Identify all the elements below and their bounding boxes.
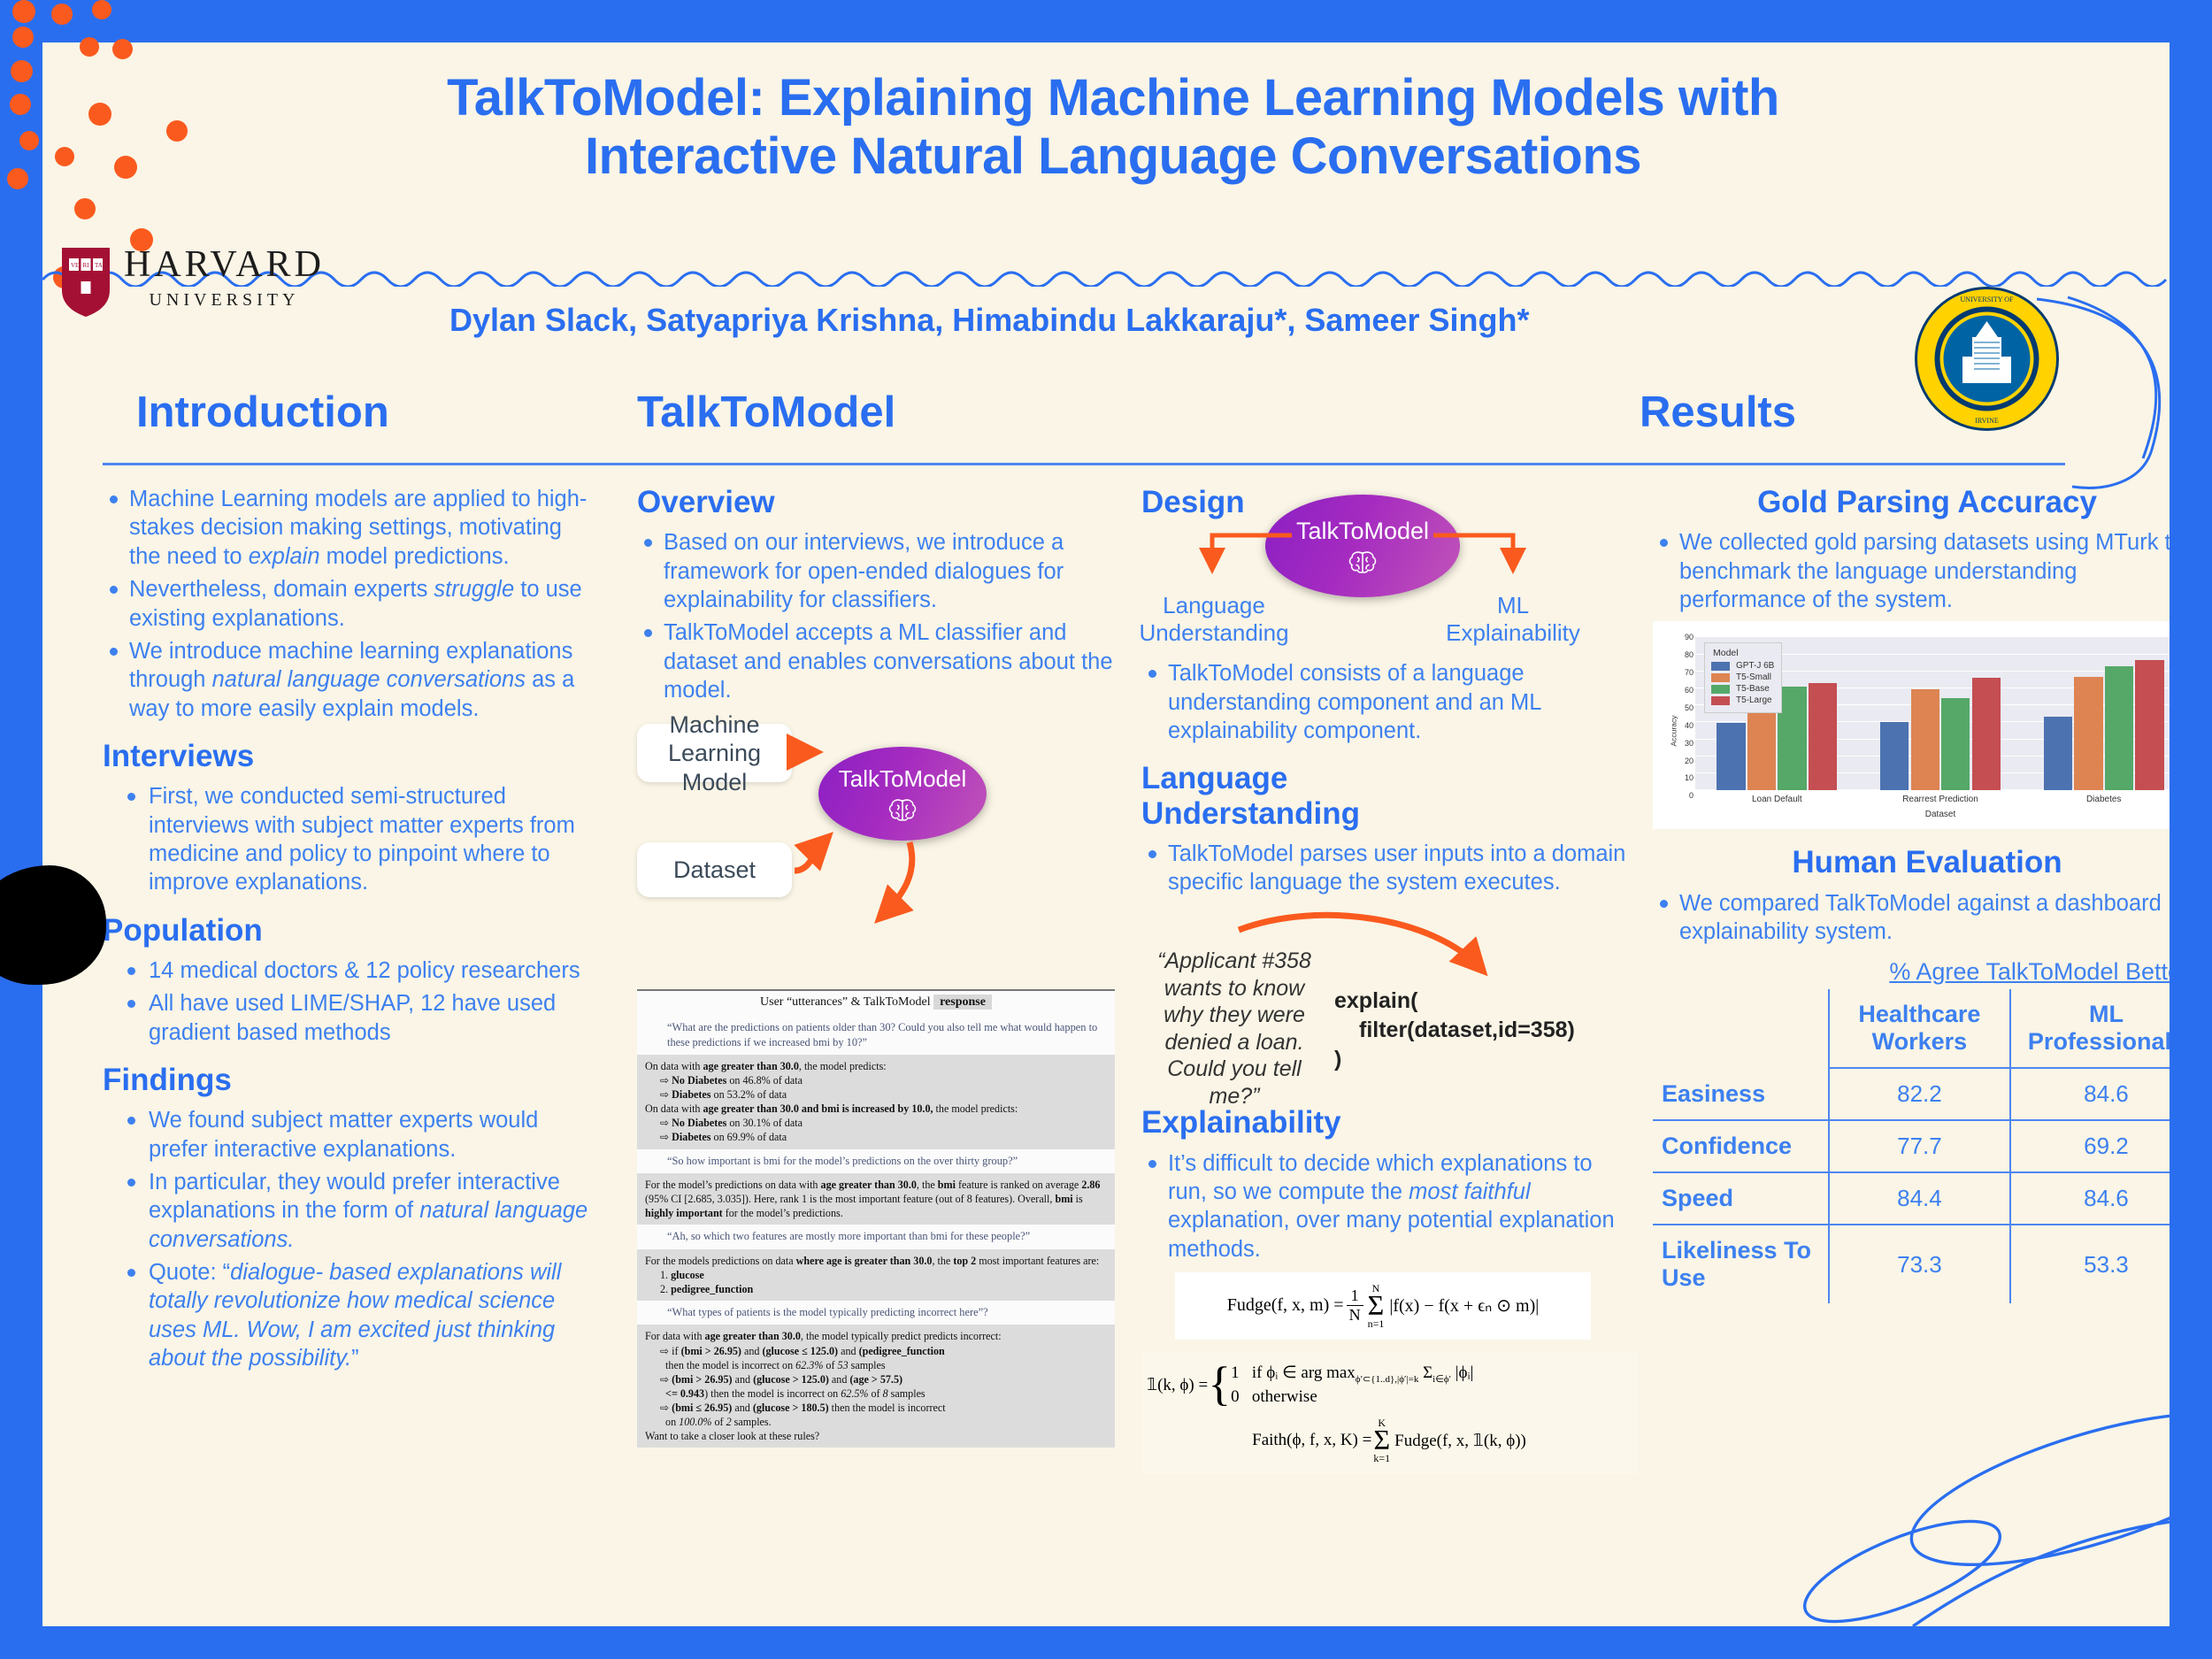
chart-legend-label: GPT-J 6B [1736,661,1774,671]
chart-legend-swatch [1711,685,1730,694]
decor-dot [114,156,137,179]
table-cell-value: 82.2 [1829,1068,2010,1120]
design-bullet-list: TalkToModel consists of a language under… [1141,659,1637,745]
column-talktomodel: Overview Based on our interviews, we int… [637,485,1115,1448]
decor-dot [74,198,96,219]
chart-legend-label: T5-Base [1736,684,1770,694]
section-heading-interviews: Interviews [103,739,598,773]
chart-category-label: Rearrest Prediction [1859,790,2023,804]
explainability-bullet-list: It’s difficult to decide which explanati… [1141,1149,1637,1264]
section-heading-findings: Findings [103,1063,598,1097]
list-item: We introduce machine learning explanatio… [103,637,598,723]
list-item: Nevertheless, domain experts struggle to… [103,575,598,633]
decor-dot [11,60,33,82]
diagram-arrows [637,718,1115,984]
chart-legend-label: T5-Large [1736,695,1772,705]
table-header-ml: ML Professionals [2010,989,2170,1068]
decor-dot [112,39,133,59]
harvard-sub: UNIVERSITY [124,290,325,311]
design-diagram: TalkToModel [1141,488,1637,656]
table-header-healthcare: Healthcare Workers [1829,989,2010,1068]
decor-curve-corner [1798,1334,2170,1626]
gold-parsing-chart: Accuracy 0102030405060708090 Loan Defaul… [1653,621,2170,829]
table-cell-value: 73.3 [1829,1225,2010,1303]
chart-category-label: Diabetes [2022,790,2170,804]
lu-bullet-list: TalkToModel parses user inputs into a do… [1141,840,1637,897]
chart-category-label: Loan Default [1695,790,1859,804]
chart-ytick: 40 [1667,721,1694,730]
title-line-2: Interactive Natural Language Conversatio… [202,127,2024,186]
wave-divider [42,264,2170,287]
column-introduction: Machine Learning models are applied to h… [103,485,598,1378]
list-item: All have used LIME/SHAP, 12 have used gr… [103,989,598,1047]
gold-parsing-bullet-list: We collected gold parsing datasets using… [1653,528,2170,614]
list-item: 14 medical doctors & 12 policy researche… [103,956,598,985]
population-bullet-list: 14 medical doctors & 12 policy researche… [103,956,598,1047]
list-item: We collected gold parsing datasets using… [1653,528,2170,614]
table-row: Likeliness To Use73.353.3 [1653,1225,2170,1303]
dialogue-system-response: For the models predictions on data where… [637,1249,1115,1301]
list-item: TalkToModel accepts a ML classifier and … [637,618,1115,704]
decor-dot [12,0,35,23]
section-heading-overview: Overview [637,485,1115,519]
section-heading-human-evaluation: Human Evaluation [1653,845,2170,879]
chart-legend-item: GPT-J 6B [1711,661,1774,671]
column-heading-talktomodel: TalkToModel [637,388,895,437]
table-row-label: Speed [1653,1172,1829,1225]
list-item: Quote: “dialogue- based explanations wil… [103,1258,598,1373]
formula-indicator-faith: 𝟙(k, ϕ) = { 1 if ϕᵢ ∈ arg maxϕ′⊂{1..d},|… [1141,1352,1637,1474]
decor-dot [12,27,34,48]
chart-legend-rows: GPT-J 6BT5-SmallT5-BaseT5-Large [1711,661,1774,705]
chart-legend-item: T5-Base [1711,684,1774,694]
decor-dot [92,0,111,19]
poster-title: TalkToModel: Explaining Machine Learning… [202,69,2024,185]
section-heading-language-understanding: Language Understanding [1141,761,1433,830]
formula-faith: Faith(ϕ, f, x, K) = K Σ k=1 Fudge(f, x, … [1147,1417,1632,1463]
harvard-name: HARVARD [124,246,325,283]
formula-faith-sum: K Σ k=1 [1373,1417,1390,1463]
list-item: We found subject matter experts would pr… [103,1106,598,1164]
system-diagram: Machine Learning Model Dataset TalkToMod… [637,718,1115,984]
list-item: Based on our interviews, we introduce a … [637,528,1115,614]
column-design: Design TalkToModel [1141,485,1637,1474]
dialogue-figure: User “utterances” & TalkToModel response… [637,989,1115,1448]
chart-bar-group: Rearrest Prediction [1859,637,2023,790]
chart-ytick: 80 [1667,650,1694,659]
chart-bar [2074,677,2102,790]
svg-text:RI: RI [83,262,90,269]
list-item: First, we conducted semi-structured inte… [103,782,598,897]
dialogue-user-utterance: “So how important is bmi for the model’s… [637,1149,1115,1174]
design-label-right: ML Explainability [1433,592,1593,646]
chart-legend-swatch [1711,673,1730,682]
decor-dot [88,103,111,126]
dialogue-user-utterance: “What types of patients is the model typ… [637,1301,1115,1325]
chart-legend-item: T5-Small [1711,672,1774,682]
harvard-logo: VERITAS HARVARD UNIVERSITY [60,246,325,319]
svg-text:UNIVERSITY OF: UNIVERSITY OF [1961,296,2014,303]
chart-plot-area: Loan DefaultRearrest PredictionDiabetes … [1695,637,2170,790]
chart-bar [1717,723,1745,791]
table-row-label: Easiness [1653,1068,1829,1120]
chart-ytick: 0 [1667,791,1694,800]
dialogue-turn-list: “What are the predictions on patients ol… [637,1016,1115,1448]
table-header-row: Healthcare Workers ML Professionals [1653,989,2170,1068]
chart-ytick: 20 [1667,757,1694,765]
design-label-left: Language Understanding [1134,592,1294,646]
list-item: TalkToModel consists of a language under… [1141,659,1637,745]
chart-legend-swatch [1711,662,1730,671]
lu-code-line1: explain( [1334,988,1417,1013]
chart-ytick: 60 [1667,686,1694,695]
chart-bar [1747,704,1776,790]
svg-text:IRVINE: IRVINE [1975,417,1999,425]
chart-legend-label: T5-Small [1736,672,1771,682]
dialogue-user-utterance: “What are the predictions on patients ol… [637,1016,1115,1055]
chart-ytick: 70 [1667,668,1694,677]
dialogue-system-response: For the model’s predictions on data with… [637,1173,1115,1225]
chart-bar [1941,698,1970,790]
list-item: We compared TalkToModel against a dashbo… [1653,889,2170,947]
overview-bullet-list: Based on our interviews, we introduce a … [637,528,1115,704]
table-row: Confidence77.769.2 [1653,1120,2170,1172]
chart-bar [1972,678,2001,790]
dialogue-user-utterance: “Ah, so which two features are mostly mo… [637,1225,1115,1249]
dialogue-caption-response: response [933,995,992,1010]
formula-fudge-lhs: Fudge(f, x, m) = [1227,1295,1344,1316]
header-divider [103,463,2065,465]
chart-legend: Model GPT-J 6BT5-SmallT5-BaseT5-Large [1704,642,1782,713]
chart-legend-title: Model [1711,648,1774,658]
column-heading-introduction: Introduction [136,388,389,437]
chart-bar [1809,683,1837,791]
lu-diagram: “Applicant #358 wants to know why they w… [1141,905,1637,1109]
chart-ytick: 10 [1667,773,1694,782]
interviews-bullet-list: First, we conducted semi-structured inte… [103,782,598,897]
formula-fudge-sum: N Σ n=1 [1368,1283,1385,1329]
intro-bullet-list: Machine Learning models are applied to h… [103,485,598,723]
harvard-shield-icon: VERITAS [60,246,111,319]
table-cell-value: 77.7 [1829,1120,2010,1172]
author-list: Dylan Slack, Satyapriya Krishna, Himabin… [449,302,1529,339]
dialogue-caption: User “utterances” & TalkToModel response [637,991,1115,1016]
human-eval-table: Healthcare Workers ML Professionals Easi… [1653,989,2170,1303]
section-heading-gold-parsing: Gold Parsing Accuracy [1653,485,2170,519]
table-row-label: Confidence [1653,1120,1829,1172]
chart-ytick: 90 [1667,633,1694,641]
chart-bar [2044,717,2072,791]
chart-bar [1911,689,1939,791]
chart-ytick: 30 [1667,739,1694,748]
chart-ytick: 50 [1667,703,1694,712]
chart-legend-swatch [1711,696,1730,705]
lu-code: explain( filter(dataset,id=358) ) [1334,987,1600,1074]
formula-fudge: Fudge(f, x, m) = 1 N N Σ n=1 |f(x) − f(x… [1175,1272,1591,1340]
chart-xlabel: Dataset [1695,810,2170,819]
lu-code-line3: ) [1334,1047,1341,1071]
table-cell-value: 84.6 [2010,1068,2170,1120]
formula-indicator: 𝟙(k, ϕ) = { 1 if ϕᵢ ∈ arg maxϕ′⊂{1..d},|… [1147,1363,1632,1408]
formula-fudge-rhs: |f(x) − f(x + ϵₙ ⊙ m)| [1389,1294,1539,1317]
list-item: TalkToModel parses user inputs into a do… [1141,840,1637,897]
table-cell-value: 69.2 [2010,1120,2170,1172]
table-body: Easiness82.284.6Confidence77.769.2Speed8… [1653,1068,2170,1303]
chart-bar [2135,660,2163,790]
decor-dot [19,131,39,150]
findings-bullet-list: We found subject matter experts would pr… [103,1106,598,1372]
section-heading-population: Population [103,913,598,948]
decor-dot [55,147,74,166]
uci-seal-icon: UNIVERSITY OF IRVINE [1914,286,2060,432]
decor-dot [51,4,73,25]
chart-bar [1880,722,1909,791]
table-row: Speed84.484.6 [1653,1172,2170,1225]
table-cell-value: 53.3 [2010,1225,2170,1303]
human-eval-bullet-list: We compared TalkToModel against a dashbo… [1653,889,2170,947]
decor-dot [80,37,99,57]
dialogue-system-response: On data with age greater than 30.0, the … [637,1055,1115,1148]
svg-text:TAS: TAS [95,262,106,269]
chart-legend-item: T5-Large [1711,695,1774,705]
column-heading-results: Results [1640,388,1796,437]
harvard-wordmark: HARVARD UNIVERSITY [124,246,325,311]
decor-dot [10,94,31,115]
svg-text:VE: VE [71,262,79,269]
chart-inner: Accuracy 0102030405060708090 Loan Defaul… [1660,630,2170,824]
table-cell-value: 84.6 [2010,1172,2170,1225]
section-heading-explainability: Explainability [1141,1105,1637,1140]
table-row-label: Likeliness To Use [1653,1225,1829,1303]
decor-dot [7,168,28,189]
table-header-blank [1653,989,1829,1068]
decor-dot [166,120,188,142]
chart-bar [2105,666,2133,790]
table-row: Easiness82.284.6 [1653,1068,2170,1120]
dialogue-caption-user: User “utterances” & TalkToModel [760,995,931,1009]
chart-bar-group: Diabetes [2022,637,2170,790]
title-line-1: TalkToModel: Explaining Machine Learning… [202,69,2024,127]
table-head: Healthcare Workers ML Professionals [1653,989,2170,1068]
list-item: In particular, they would prefer interac… [103,1168,598,1254]
list-item: Machine Learning models are applied to h… [103,485,598,571]
formula-fudge-fraction: 1 N [1347,1286,1363,1325]
table-cell-value: 84.4 [1829,1172,2010,1225]
lu-code-line2: filter(dataset,id=358) [1334,1016,1600,1045]
lu-quote: “Applicant #358 wants to know why they w… [1150,948,1318,1110]
list-item: It’s difficult to decide which explanati… [1141,1149,1637,1264]
dialogue-system-response: For data with age greater than 30.0, the… [637,1325,1115,1448]
poster-canvas: TalkToModel: Explaining Machine Learning… [42,42,2170,1626]
table-caption: % Agree TalkToModel Better [1653,958,2170,986]
column-results: Gold Parsing Accuracy We collected gold … [1653,485,2170,1303]
